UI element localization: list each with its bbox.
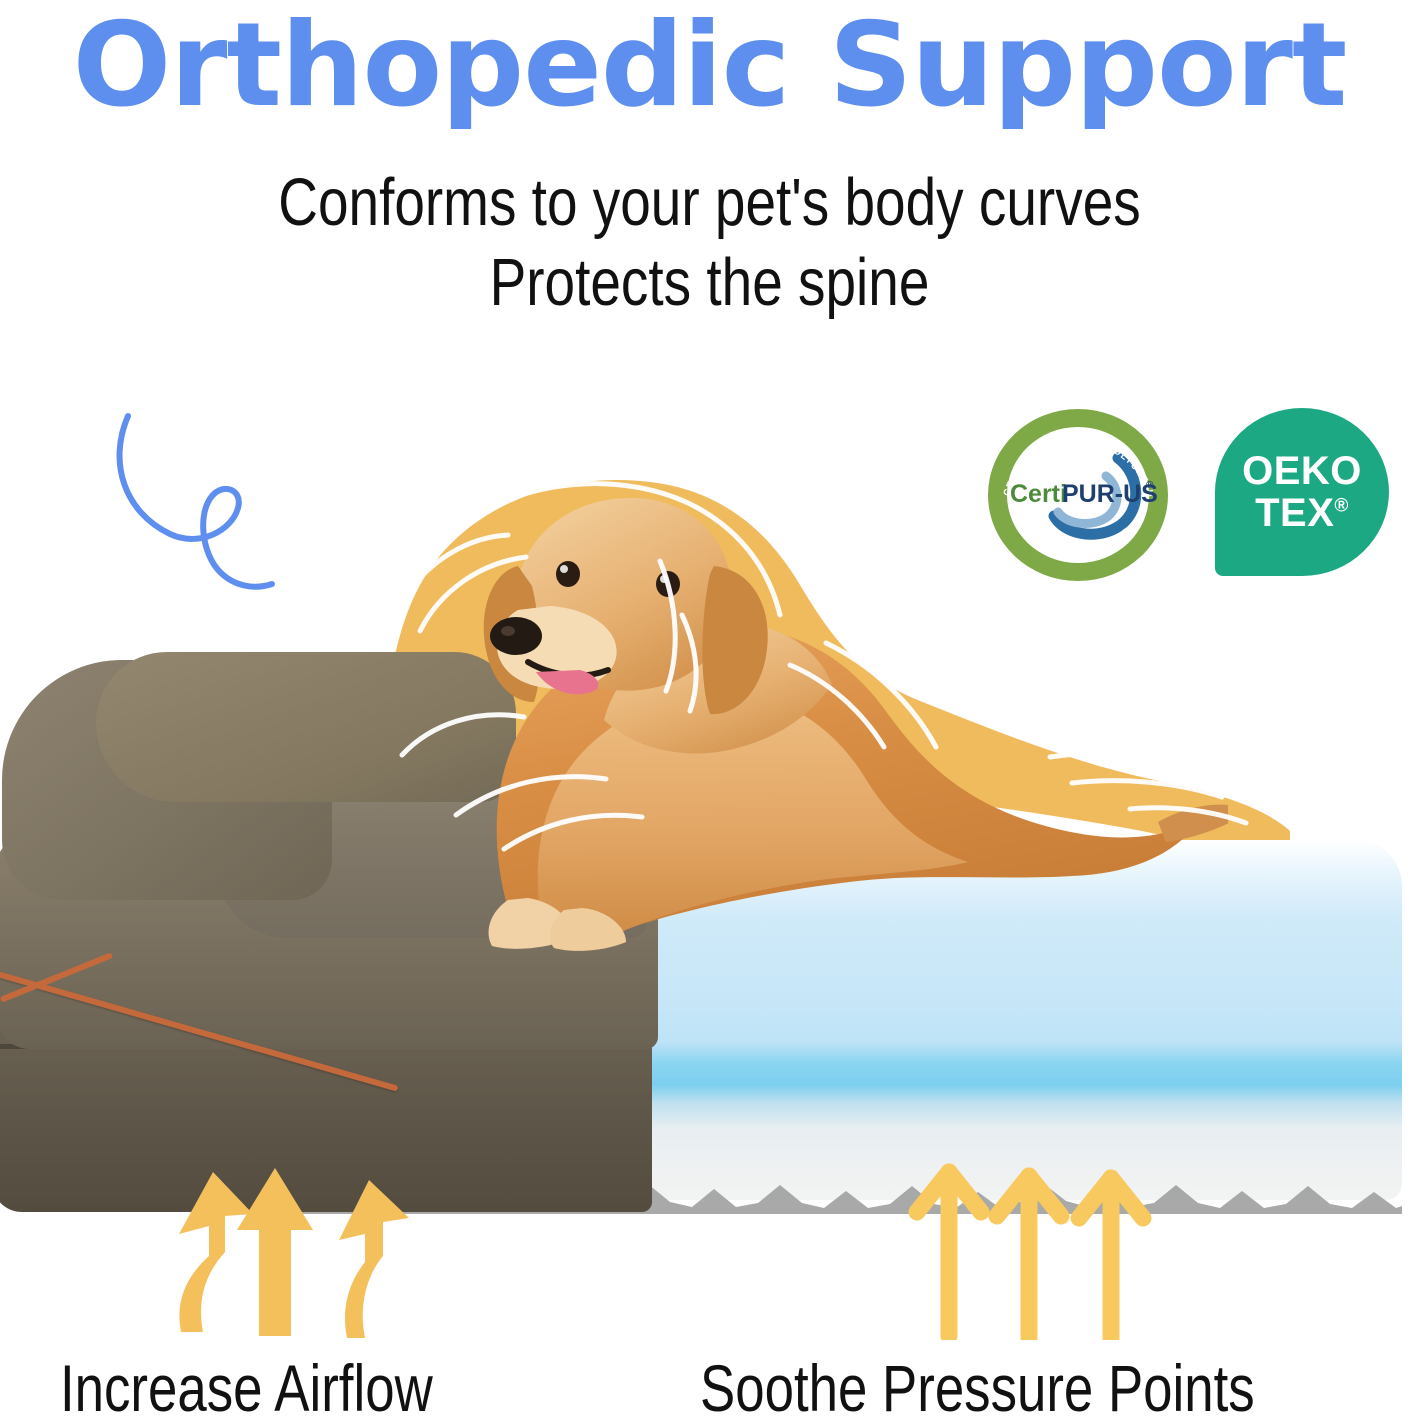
caption-increase-airflow: Increase Airflow [60, 1355, 433, 1421]
subtitle-line-1: Conforms to your pet's body curves [128, 165, 1292, 240]
infographic-page: Orthopedic Support Conforms to your pet'… [0, 0, 1419, 1425]
subtitle-line-2: Protects the spine [128, 245, 1292, 320]
product-illustration [0, 440, 1419, 1270]
pressure-point-arrows [905, 1150, 1155, 1340]
airflow-arrows [165, 1150, 415, 1340]
golden-retriever-photo [368, 470, 1228, 970]
page-title: Orthopedic Support [0, 6, 1419, 127]
caption-soothe-pressure-points: Soothe Pressure Points [700, 1355, 1255, 1421]
